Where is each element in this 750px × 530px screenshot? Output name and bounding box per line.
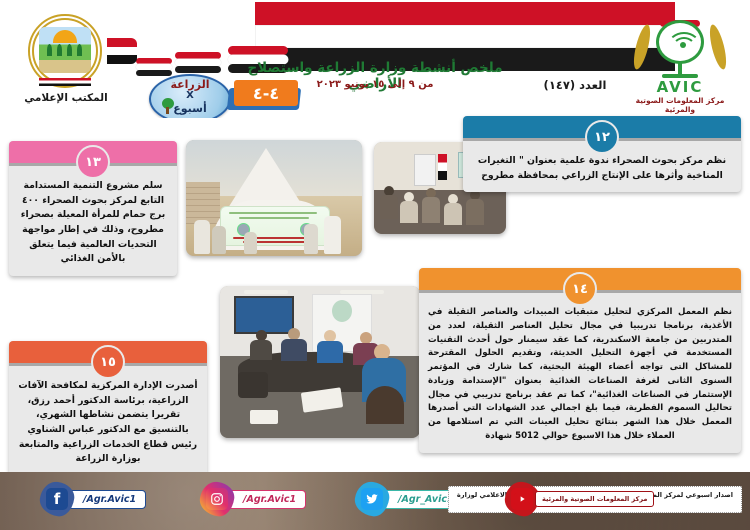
card-14-number: ١٤ (563, 272, 597, 306)
news-card-12: ١٢ نظم مركز بحوث الصحراء ندوة علمية بعنو… (463, 116, 741, 192)
news-card-13: ١٣ سلم مشروع التنمية المستدامة التابع لم… (9, 141, 177, 276)
card-13-number: ١٣ (76, 145, 110, 179)
twitter-icon (361, 488, 383, 510)
facebook-handle: /Agr.Avic1 (68, 490, 146, 509)
meeting-room-photo (220, 286, 420, 438)
card-15-number: ١٥ (91, 345, 125, 379)
mini-flag-icon (107, 38, 137, 64)
facebook-icon: f (46, 488, 68, 510)
agriculture-week-badge: الزراعة X أسبوع (149, 74, 231, 118)
desert-dovecote-handover-photo (186, 140, 362, 256)
page-header: المكتب الإعلامي الزراعة X أسبوع ٤-٤ ملخص… (0, 0, 750, 118)
card-14-text: نظم المعمل المركزي لتحليل متبقيات المبيد… (419, 290, 741, 453)
card-12-number: ١٢ (585, 120, 619, 154)
media-office-caption: المكتب الإعلامي (18, 92, 114, 104)
ministry-logo (28, 14, 102, 88)
broadcast-waves-icon (656, 20, 704, 64)
card-13-text: سلم مشروع التنمية المستدامة التابع لمركز… (9, 163, 177, 276)
instagram-icon (206, 488, 228, 510)
infographic-page: المكتب الإعلامي الزراعة X أسبوع ٤-٤ ملخص… (0, 0, 750, 530)
facebook-link[interactable]: f /Agr.Avic1 (40, 484, 146, 514)
card-15-text: أصدرت الإدارة المركزية لمكافحة الآفات ال… (9, 363, 207, 476)
avic-name: AVIC (632, 78, 728, 96)
page-footer: f /Agr.Avic1 /Agr.Avic1 /A (0, 472, 750, 530)
avic-logo: AVIC مركز المعلومات الصوتية والمرئية (632, 18, 728, 110)
issue-number: العدد (١٤٧) (520, 78, 630, 92)
instagram-link[interactable]: /Agr.Avic1 (200, 484, 306, 514)
instagram-handle: /Agr.Avic1 (228, 490, 306, 509)
ribbon-curl-small (136, 58, 172, 80)
avic-subtitle: مركز المعلومات الصوتية والمرئية (626, 96, 734, 114)
page-subtitle-dates: من ٩ إلى ١٥ يونيو ٢٠٢٣ (275, 79, 475, 90)
news-card-15: ١٥ أصدرت الإدارة المركزية لمكافحة الآفات… (9, 341, 207, 476)
youtube-handle: مركز المعلومات الصوتية والمرئية (535, 491, 654, 507)
youtube-icon (511, 488, 533, 510)
news-card-14: ١٤ نظم المعمل المركزي لتحليل متبقيات الم… (419, 268, 741, 453)
